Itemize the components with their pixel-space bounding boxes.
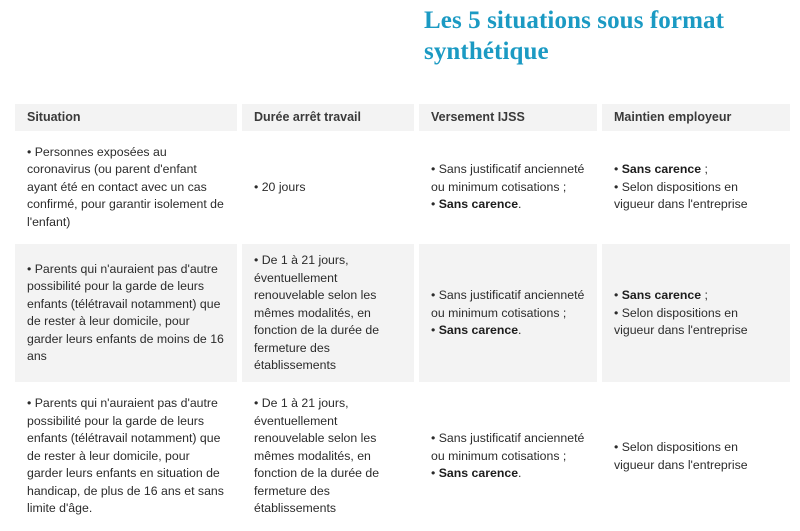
maintien-line-2: • Selon dispositions en vigueur dans l'e… <box>614 179 780 214</box>
cell-duree: • 20 jours <box>242 136 414 239</box>
ijss-line-2-tail: . <box>518 466 521 480</box>
ijss-emphasis: Sans carence <box>439 197 518 211</box>
cell-ijss: • Sans justificatif ancienneté ou minimu… <box>419 136 597 239</box>
column-header-situation: Situation <box>15 104 237 131</box>
cell-maintien-text: • Sans carence ; • Selon dispositions en… <box>602 153 790 221</box>
maintien-line-1: • Sans carence ; <box>614 161 780 178</box>
ijss-emphasis: Sans carence <box>439 323 518 337</box>
ijss-line-2: • Sans carence. <box>431 465 587 482</box>
ijss-line-2-tail: . <box>518 197 521 211</box>
cell-duree-text: • 20 jours <box>242 171 414 204</box>
cell-situation-text: • Parents qui n'auraient pas d'autre pos… <box>15 387 237 525</box>
cell-maintien: • Sans carence ; • Selon dispositions en… <box>602 136 790 239</box>
maintien-line-2: • Selon dispositions en vigueur dans l'e… <box>614 439 780 474</box>
column-header-duree-label: Durée arrêt travail <box>242 104 414 131</box>
cell-duree-text: • De 1 à 21 jours, éventuellement renouv… <box>242 387 414 525</box>
bullet: • <box>614 162 622 176</box>
cell-duree: • De 1 à 21 jours, éventuellement renouv… <box>242 387 414 525</box>
situations-summary-table: Situation Durée arrêt travail Versement … <box>10 99 795 531</box>
ijss-line-2-tail: . <box>518 323 521 337</box>
maintien-line-1-tail: ; <box>701 288 708 302</box>
cell-ijss-text: • Sans justificatif ancienneté ou minimu… <box>419 279 597 347</box>
column-header-ijss-label: Versement IJSS <box>419 104 597 131</box>
cell-situation: • Parents qui n'auraient pas d'autre pos… <box>15 244 237 382</box>
cell-situation: • Parents qui n'auraient pas d'autre pos… <box>15 387 237 525</box>
column-header-maintien: Maintien employeur <box>602 104 790 131</box>
cell-duree: • De 1 à 21 jours, éventuellement renouv… <box>242 244 414 382</box>
maintien-line-2: • Selon dispositions en vigueur dans l'e… <box>614 305 780 340</box>
bullet: • <box>431 466 439 480</box>
ijss-line-2: • Sans carence. <box>431 196 587 213</box>
bullet: • <box>431 197 439 211</box>
column-header-situation-label: Situation <box>15 104 237 131</box>
cell-ijss: • Sans justificatif ancienneté ou minimu… <box>419 387 597 525</box>
cell-situation-text: • Parents qui n'auraient pas d'autre pos… <box>15 253 237 374</box>
cell-maintien: • Sans carence ; • Selon dispositions en… <box>602 244 790 382</box>
table-body: • Personnes exposées au coronavirus (ou … <box>15 136 790 526</box>
maintien-emphasis: Sans carence <box>622 162 701 176</box>
column-header-duree: Durée arrêt travail <box>242 104 414 131</box>
table-row: • Personnes exposées au coronavirus (ou … <box>15 136 790 239</box>
cell-situation: • Personnes exposées au coronavirus (ou … <box>15 136 237 239</box>
title-block: Les 5 situations sous format synthétique <box>424 6 784 67</box>
column-header-ijss: Versement IJSS <box>419 104 597 131</box>
cell-maintien-text: • Selon dispositions en vigueur dans l'e… <box>602 431 790 482</box>
ijss-emphasis: Sans carence <box>439 466 518 480</box>
table-header: Situation Durée arrêt travail Versement … <box>15 104 790 131</box>
cell-maintien: • Selon dispositions en vigueur dans l'e… <box>602 387 790 525</box>
header-row: Situation Durée arrêt travail Versement … <box>15 104 790 131</box>
maintien-line-1-tail: ; <box>701 162 708 176</box>
maintien-line-1: • Sans carence ; <box>614 287 780 304</box>
cell-ijss-text: • Sans justificatif ancienneté ou minimu… <box>419 422 597 490</box>
ijss-line-1: • Sans justificatif ancienneté ou minimu… <box>431 161 587 196</box>
ijss-line-2: • Sans carence. <box>431 322 587 339</box>
table-row: • Parents qui n'auraient pas d'autre pos… <box>15 387 790 525</box>
column-header-maintien-label: Maintien employeur <box>602 104 790 131</box>
cell-situation-text: • Personnes exposées au coronavirus (ou … <box>15 136 237 239</box>
bullet: • <box>614 288 622 302</box>
table-row: • Parents qui n'auraient pas d'autre pos… <box>15 244 790 382</box>
bullet: • <box>431 323 439 337</box>
cell-ijss: • Sans justificatif ancienneté ou minimu… <box>419 244 597 382</box>
ijss-line-1: • Sans justificatif ancienneté ou minimu… <box>431 430 587 465</box>
page-title: Les 5 situations sous format synthétique <box>424 6 784 67</box>
cell-duree-text: • De 1 à 21 jours, éventuellement renouv… <box>242 244 414 382</box>
ijss-line-1: • Sans justificatif ancienneté ou minimu… <box>431 287 587 322</box>
summary-table-wrapper: Situation Durée arrêt travail Versement … <box>10 99 790 531</box>
maintien-emphasis: Sans carence <box>622 288 701 302</box>
cell-ijss-text: • Sans justificatif ancienneté ou minimu… <box>419 153 597 221</box>
cell-maintien-text: • Sans carence ; • Selon dispositions en… <box>602 279 790 347</box>
